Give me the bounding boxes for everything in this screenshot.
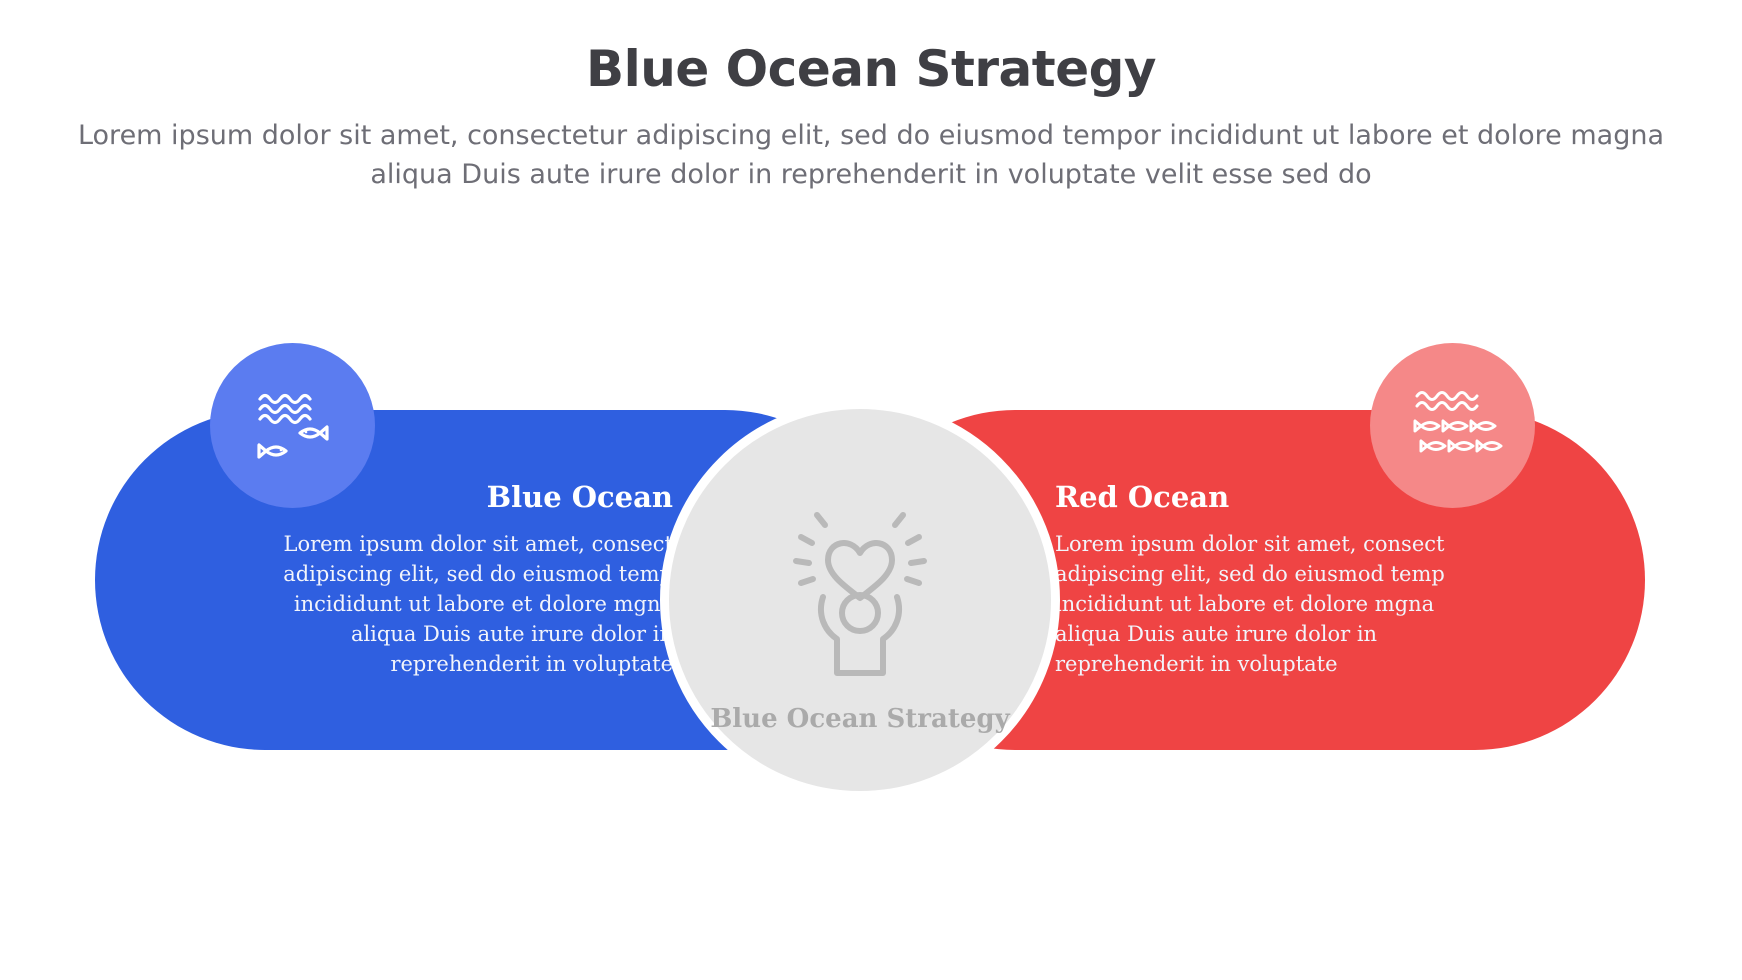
blue-ocean-strategy-diagram: Blue Ocean Lorem ipsum dolor sit amet, c…: [0, 0, 1742, 980]
center-circle[interactable]: Blue Ocean Strategy: [660, 400, 1060, 800]
panel-red-ocean-heading: Red Ocean: [1055, 480, 1229, 514]
center-icon-wrap: [765, 485, 955, 690]
panel-blue-ocean-body: Lorem ipsum dolor sit amet, consect adip…: [283, 530, 673, 679]
wave-fish-icon: [238, 371, 348, 481]
wave-fish-school-icon: [1397, 370, 1509, 482]
badge-red-ocean[interactable]: [1370, 343, 1535, 508]
panel-blue-ocean-heading: Blue Ocean: [487, 480, 673, 514]
badge-blue-ocean[interactable]: [210, 343, 375, 508]
center-label: Blue Ocean Strategy: [710, 704, 1009, 734]
heart-hands-icon: [765, 485, 955, 685]
panel-red-ocean-body: Lorem ipsum dolor sit amet, consect adip…: [1055, 530, 1445, 679]
